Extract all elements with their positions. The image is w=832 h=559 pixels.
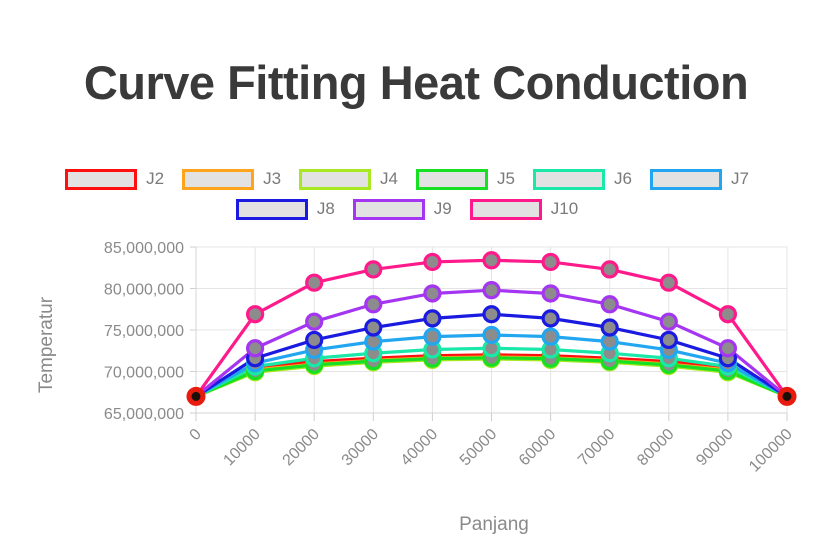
- data-point-j8-4: [425, 311, 440, 326]
- data-point-j7-5: [484, 327, 499, 342]
- data-point-j10-7: [602, 262, 617, 277]
- x-tick-label: 60000: [516, 426, 560, 470]
- x-tick-label: 20000: [280, 426, 324, 470]
- data-point-j10-6: [543, 254, 558, 269]
- endpoint-marker: [189, 389, 203, 403]
- x-tick-label: 50000: [457, 426, 501, 470]
- x-tick-label: 90000: [693, 426, 737, 470]
- data-point-j10-3: [366, 262, 381, 277]
- x-tick-label: 30000: [339, 426, 383, 470]
- y-tick-label: 70,000,000: [104, 365, 184, 382]
- x-tick-label: 70000: [575, 426, 619, 470]
- data-point-j7-4: [425, 329, 440, 344]
- data-point-j9-5: [484, 283, 499, 298]
- x-tick-label: 80000: [634, 426, 678, 470]
- data-point-j9-9: [720, 341, 735, 356]
- data-point-j10-1: [248, 307, 263, 322]
- data-point-j9-1: [248, 341, 263, 356]
- data-point-j8-5: [484, 307, 499, 322]
- data-point-j10-4: [425, 254, 440, 269]
- data-point-j8-7: [602, 320, 617, 335]
- x-axis-ticks: 0100002000030000400005000060000700008000…: [187, 426, 796, 476]
- chart-plot-area: 65,000,00070,000,00075,000,00080,000,000…: [0, 0, 832, 559]
- data-point-j7-6: [543, 329, 558, 344]
- y-axis-ticks: 65,000,00070,000,00075,000,00080,000,000…: [104, 240, 184, 423]
- x-tick-label: 100000: [746, 426, 796, 476]
- data-point-j10-5: [484, 253, 499, 268]
- data-point-j9-6: [543, 286, 558, 301]
- data-point-j10-2: [307, 275, 322, 290]
- data-point-j9-8: [661, 314, 676, 329]
- chart-container: Curve Fitting Heat Conduction J2J3J4J5J6…: [0, 0, 832, 559]
- y-tick-label: 75,000,000: [104, 323, 184, 340]
- data-point-j8-6: [543, 311, 558, 326]
- y-tick-label: 65,000,000: [104, 406, 184, 423]
- x-axis-title: Panjang: [459, 514, 529, 535]
- data-point-j9-2: [307, 314, 322, 329]
- x-tick-label: 40000: [398, 426, 442, 470]
- data-point-j8-8: [661, 332, 676, 347]
- endpoint-marker: [780, 389, 794, 403]
- x-tick-label: 0: [187, 426, 205, 444]
- data-point-j10-8: [661, 275, 676, 290]
- data-point-j10-9: [720, 307, 735, 322]
- data-point-j8-2: [307, 332, 322, 347]
- data-point-j9-3: [366, 297, 381, 312]
- y-tick-label: 80,000,000: [104, 282, 184, 299]
- data-point-j8-3: [366, 320, 381, 335]
- y-axis-title: Temperatur: [36, 296, 57, 393]
- data-point-j9-7: [602, 297, 617, 312]
- data-point-j9-4: [425, 286, 440, 301]
- y-tick-label: 85,000,000: [104, 240, 184, 257]
- x-tick-label: 10000: [220, 426, 264, 470]
